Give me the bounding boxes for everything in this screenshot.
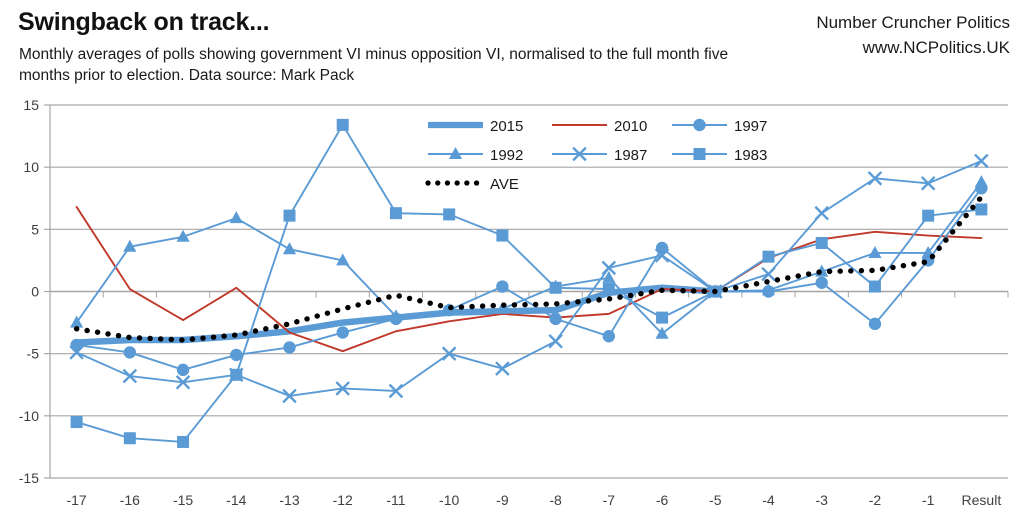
x-tick-label: -17: [66, 492, 86, 508]
series-line: [77, 188, 982, 370]
brand-block: Number Cruncher Politics www.NCPolitics.…: [710, 10, 1010, 60]
chart-legend: 201520101997199219871983AVE: [428, 118, 767, 193]
series-1997: [70, 182, 987, 376]
chart-area: -15-10-5051015-17-16-15-14-13-12-11-10-9…: [0, 96, 1024, 529]
x-tick-label: Result: [962, 492, 1002, 508]
legend-label: 1992: [490, 147, 523, 164]
data-point-square: [922, 210, 934, 222]
series-1992: [70, 175, 988, 339]
data-point-circle: [177, 364, 189, 376]
data-point-square: [284, 210, 296, 222]
legend-item-1992[interactable]: 1992: [428, 147, 523, 164]
x-axis: -17-16-15-14-13-12-11-10-9-8-7-6-5-4-3-2…: [50, 292, 1008, 509]
chart-subtitle: Monthly averages of polls showing govern…: [19, 44, 759, 86]
data-point-circle: [869, 318, 881, 330]
legend-label: AVE: [490, 176, 519, 193]
x-tick-label: -7: [603, 492, 616, 508]
x-tick-label: -16: [120, 492, 140, 508]
x-tick-label: -3: [815, 492, 828, 508]
legend-item-2010[interactable]: 2010: [552, 118, 647, 135]
data-point-square: [390, 207, 402, 219]
data-point-circle: [337, 326, 349, 338]
legend-item-1983[interactable]: 1983: [672, 147, 767, 164]
data-point-circle: [124, 346, 136, 358]
data-point-triangle: [449, 147, 462, 159]
legend-item-AVE[interactable]: AVE: [428, 176, 519, 193]
data-point-circle: [549, 313, 561, 325]
page-title: Swingback on track...: [18, 8, 269, 37]
data-point-cross: [975, 155, 988, 168]
series-1987: [70, 155, 988, 403]
series-line: [77, 207, 982, 351]
x-tick-label: -1: [922, 492, 935, 508]
data-point-circle: [496, 280, 508, 292]
series-2010: [77, 207, 982, 351]
legend-label: 1983: [734, 147, 767, 164]
x-tick-label: -2: [869, 492, 882, 508]
x-tick-label: -12: [333, 492, 353, 508]
legend-item-1987[interactable]: 1987: [552, 147, 647, 164]
line-chart: -15-10-5051015-17-16-15-14-13-12-11-10-9…: [0, 96, 1024, 529]
y-tick-label: -15: [19, 470, 39, 486]
brand-url: www.NCPolitics.UK: [710, 35, 1010, 60]
brand-name: Number Cruncher Politics: [710, 10, 1010, 35]
data-point-triangle: [230, 211, 243, 223]
data-point-circle: [603, 330, 615, 342]
x-tick-label: -8: [549, 492, 562, 508]
data-point-cross: [496, 362, 509, 375]
x-tick-label: -5: [709, 492, 722, 508]
data-point-square: [816, 237, 828, 249]
x-tick-label: -4: [762, 492, 775, 508]
y-axis: -15-10-5051015: [19, 97, 50, 486]
x-tick-label: -6: [656, 492, 669, 508]
data-point-square: [230, 369, 242, 381]
data-point-circle: [693, 119, 705, 131]
data-point-square: [603, 283, 615, 295]
x-tick-label: -11: [386, 492, 405, 508]
y-tick-label: 10: [23, 159, 39, 175]
data-point-square: [496, 230, 508, 242]
data-point-square: [177, 436, 189, 448]
y-tick-label: 0: [31, 284, 39, 300]
data-point-cross: [762, 268, 775, 281]
x-tick-label: -9: [496, 492, 509, 508]
legend-item-2015[interactable]: 2015: [428, 118, 523, 135]
chart-header: Swingback on track... Monthly averages o…: [0, 0, 1024, 100]
y-tick-label: -5: [27, 346, 40, 362]
data-point-square: [124, 432, 136, 444]
series-1983: [71, 119, 988, 448]
data-point-circle: [283, 341, 295, 353]
data-point-square: [975, 203, 987, 215]
y-tick-label: -10: [19, 408, 39, 424]
data-point-square: [550, 282, 562, 294]
x-tick-label: -15: [173, 492, 193, 508]
data-point-square: [443, 208, 455, 220]
series-group: [70, 119, 988, 448]
data-point-circle: [816, 277, 828, 289]
legend-label: 2015: [490, 118, 523, 135]
x-tick-label: -10: [439, 492, 459, 508]
series-AVE: [77, 197, 982, 340]
x-tick-label: -14: [226, 492, 246, 508]
data-point-triangle: [283, 242, 296, 254]
y-tick-label: 15: [23, 97, 39, 113]
series-line-ave: [77, 197, 982, 340]
legend-label: 1997: [734, 118, 767, 135]
data-point-square: [337, 119, 349, 131]
y-tick-label: 5: [31, 221, 39, 237]
data-point-square: [763, 251, 775, 263]
legend-label: 1987: [614, 147, 647, 164]
data-point-square: [656, 312, 668, 324]
series-line: [77, 125, 982, 442]
legend-label: 2010: [614, 118, 647, 135]
x-tick-label: -13: [279, 492, 299, 508]
data-point-square: [869, 281, 881, 293]
legend-item-1997[interactable]: 1997: [672, 118, 767, 135]
data-point-triangle: [868, 246, 881, 258]
data-point-cross: [815, 207, 828, 220]
data-point-cross: [549, 335, 562, 348]
data-point-square: [71, 416, 83, 428]
data-point-triangle: [975, 175, 988, 187]
data-point-square: [694, 148, 706, 160]
